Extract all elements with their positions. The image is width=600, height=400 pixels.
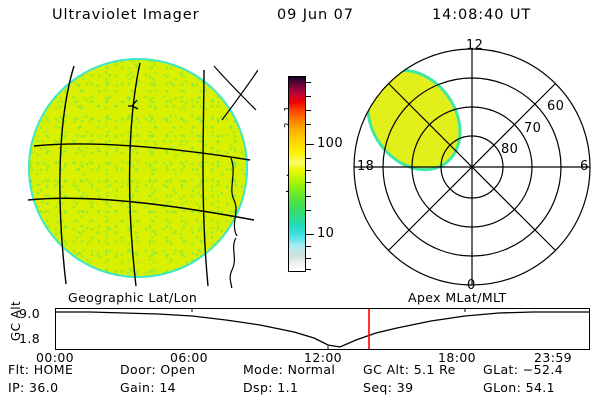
status-door: Door: Open (120, 362, 195, 377)
globe-graticule-overlay (18, 48, 258, 288)
observation-time: 14:08:40 UT (432, 7, 531, 23)
status-gc-alt: GC Alt: 5.1 Re (363, 362, 456, 377)
colorbar-tick (305, 124, 311, 125)
strip-ytick-high: 9.0 (19, 306, 40, 321)
status-ip: IP: 36.0 (8, 380, 58, 395)
strip-plot-area[interactable] (55, 308, 590, 350)
polar-mlt-label-6: 6 (580, 159, 589, 174)
status-dsp: Dsp: 1.1 (243, 380, 298, 395)
status-glat: GLat: −52.4 (483, 362, 563, 377)
colorbar-tick (305, 196, 311, 197)
altitude-strip-chart[interactable]: Geographic Lat/Lon Apex MLat/MLT GC Alt … (0, 290, 600, 358)
colorbar-tick-major-high (305, 144, 314, 145)
altitude-trace (56, 309, 589, 349)
status-gain: Gain: 14 (120, 380, 176, 395)
strip-ytick-low: 1.8 (19, 331, 40, 346)
polar-plot-panel[interactable]: 12 6 0 18 60 70 80 (348, 42, 596, 292)
colorbar-tick (305, 258, 311, 259)
strip-caption-geographic: Geographic Lat/Lon (68, 290, 197, 305)
colorbar-tick (305, 82, 311, 83)
colorbar-tick (305, 182, 311, 183)
polar-mlt-label-18: 18 (357, 159, 374, 174)
globe-image-panel[interactable] (18, 48, 258, 288)
colorbar-tick (305, 269, 311, 270)
polar-grid-and-aurora (348, 42, 596, 292)
observation-date: 09 Jun 07 (277, 7, 354, 23)
header-bar: Ultraviolet Imager 09 Jun 07 14:08:40 UT (0, 4, 600, 30)
colorbar-tick (305, 246, 311, 247)
colorbar-gradient (288, 76, 306, 272)
colorbar-tick (305, 110, 311, 111)
status-flight: Flt: HOME (8, 362, 73, 377)
colorbar-label-low: 10 (317, 226, 334, 241)
colorbar-tick (305, 96, 311, 97)
status-mode: Mode: Normal (243, 362, 335, 377)
status-glon: GLon: 54.1 (483, 380, 555, 395)
polar-mlt-label-12: 12 (466, 38, 483, 53)
polar-mlat-label-80: 80 (501, 142, 518, 157)
colorbar-tick (305, 170, 311, 171)
colorbar-label-high: 100 (317, 136, 343, 151)
status-seq: Seq: 39 (363, 380, 413, 395)
colorbar-tick (305, 158, 311, 159)
colorbar-tick (305, 210, 311, 211)
polar-mlat-label-70: 70 (524, 121, 541, 136)
instrument-title: Ultraviolet Imager (52, 7, 199, 23)
colorbar-tick-major-low (305, 234, 314, 235)
colorbar-panel: photon cm-2s-1 100 10 (262, 48, 342, 288)
polar-mlat-label-60: 60 (547, 99, 564, 114)
status-bar: Flt: HOME IP: 36.0 Door: Open Gain: 14 M… (0, 362, 600, 400)
strip-caption-apex: Apex MLat/MLT (408, 290, 507, 305)
